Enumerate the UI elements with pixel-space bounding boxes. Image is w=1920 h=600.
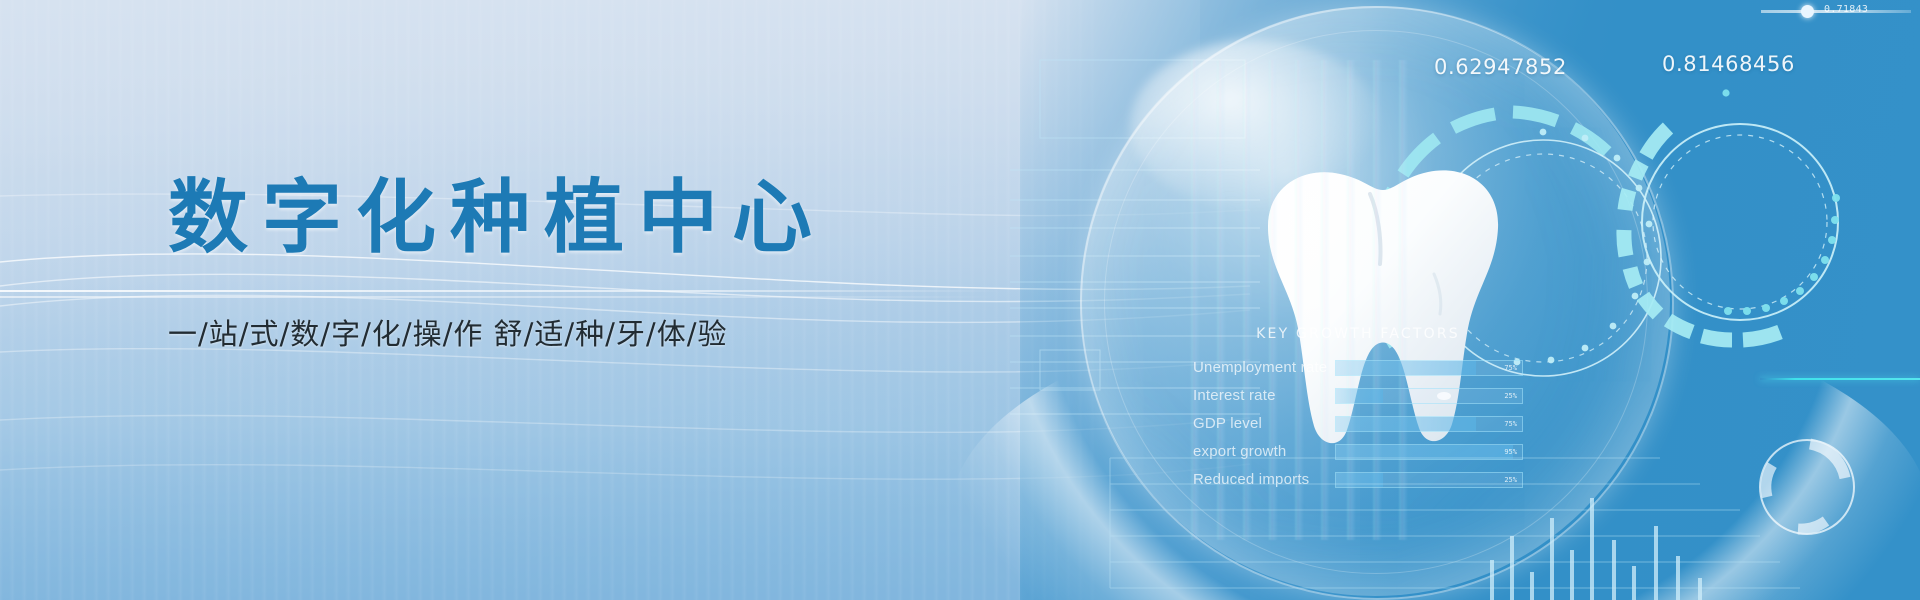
readout-value-left: 0.62947852 xyxy=(1434,55,1567,79)
chart-row-value: 75% xyxy=(1504,364,1517,372)
chart-row-bar: 75% xyxy=(1335,416,1523,432)
slider-handle[interactable] xyxy=(1801,5,1814,18)
chart-row-bar: 25% xyxy=(1335,388,1523,404)
chart-row-bar-fill xyxy=(1336,361,1476,375)
cyan-accent-line xyxy=(1760,378,1920,380)
top-right-slider[interactable]: 0.71843 xyxy=(1761,4,1911,20)
slider-value: 0.71843 xyxy=(1824,4,1868,15)
chart-row-label: Interest rate xyxy=(1193,387,1325,404)
page-title: 数字化种植中心 xyxy=(168,178,928,258)
chart-row-bar: 75% xyxy=(1335,360,1523,376)
chart-row-label: GDP level xyxy=(1193,415,1325,432)
chart-row-bar-fill xyxy=(1336,417,1476,431)
chart-row: Interest rate25% xyxy=(1193,386,1523,408)
chart-row-value: 25% xyxy=(1504,392,1517,400)
readout-value-right: 0.81468456 xyxy=(1662,52,1795,76)
chart-row-value: 75% xyxy=(1504,420,1517,428)
chart-row-bar-fill xyxy=(1336,389,1383,403)
divider-line-bottom xyxy=(0,296,1000,298)
chart-title: KEY GROWTH FACTORS xyxy=(1193,326,1523,342)
divider-line-top xyxy=(0,290,1000,292)
headline-block: 数字化种植中心 一/站/式/数/字/化/操/作 舒/适/种/牙/体/验 xyxy=(168,178,928,258)
chart-row-label: Unemployment rate xyxy=(1193,359,1325,376)
page-subtitle: 一/站/式/数/字/化/操/作 舒/适/种/牙/体/验 xyxy=(168,311,727,353)
chart-row: Unemployment rate75% xyxy=(1193,358,1523,380)
divider-rules xyxy=(0,290,1000,300)
banner-root: 0.71843 0.62947852 0.81468456 KEY GROWTH… xyxy=(0,0,1920,600)
chart-row: GDP level75% xyxy=(1193,414,1523,436)
bottom-hud-bars xyxy=(1100,440,1800,600)
